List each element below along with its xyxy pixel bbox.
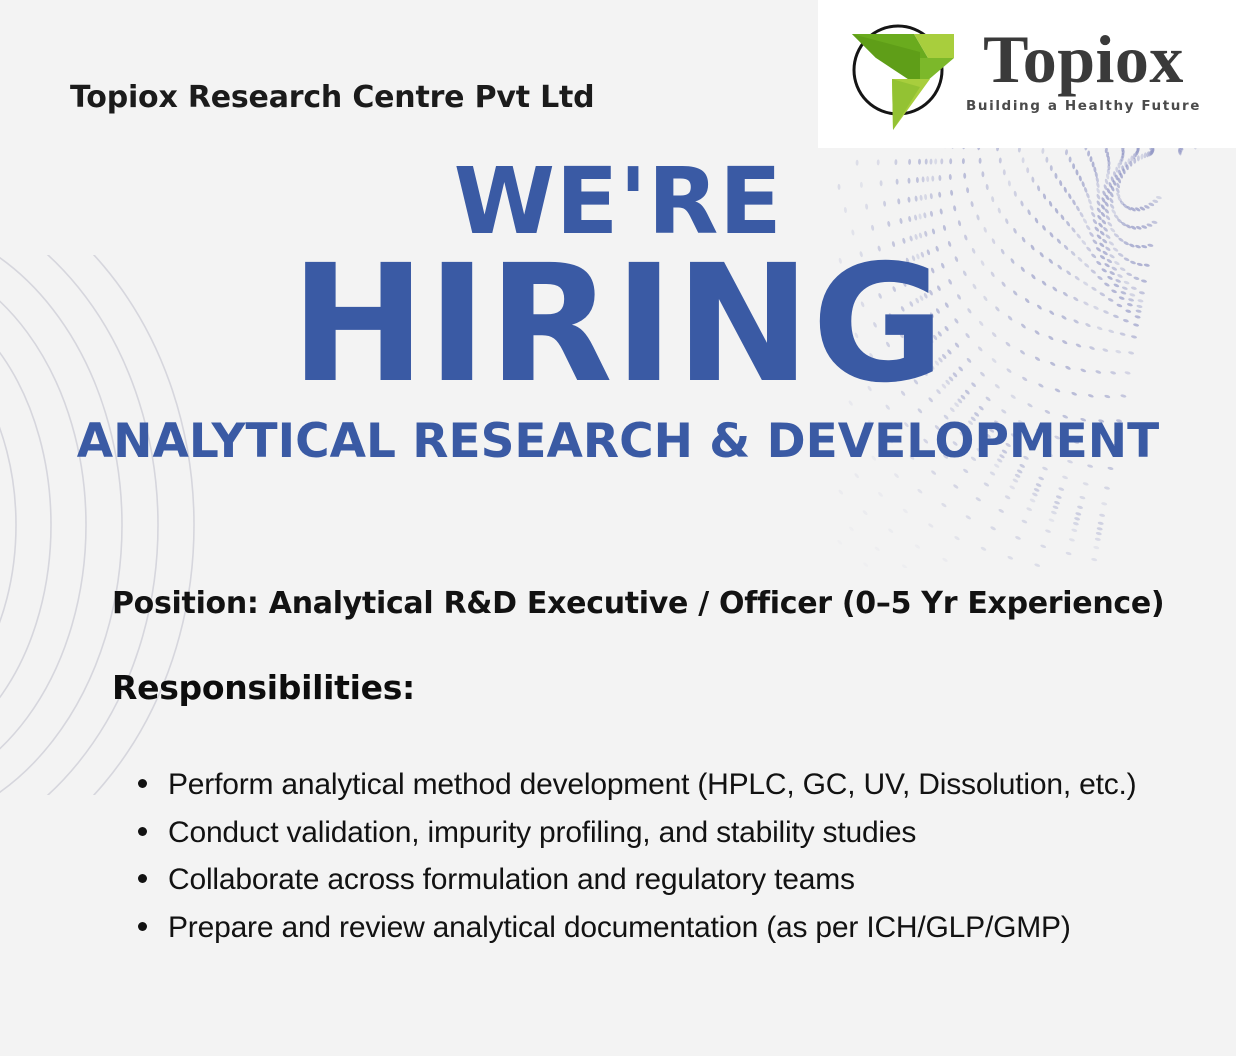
list-item: Conduct validation, impurity profiling, … — [168, 810, 1168, 856]
headline-hiring: HIRING — [0, 251, 1236, 400]
headline-block: WE'RE HIRING ANALYTICAL RESEARCH & DEVEL… — [0, 160, 1236, 465]
list-item: Perform analytical method development (H… — [168, 762, 1168, 808]
list-item-text: Perform analytical method development (H… — [168, 768, 1136, 801]
list-item-text: Prepare and review analytical documentat… — [168, 911, 1071, 944]
logo-wordmark: Topiox — [983, 26, 1184, 93]
list-item-text: Collaborate across formulation and regul… — [168, 863, 855, 896]
bullet-icon — [138, 874, 147, 883]
hiring-poster: Topiox Building a Healthy Future Topiox … — [0, 0, 1236, 1056]
list-item-text: Conduct validation, impurity profiling, … — [168, 816, 916, 849]
headline-department: ANALYTICAL RESEARCH & DEVELOPMENT — [0, 418, 1236, 465]
brand-logo: Topiox Building a Healthy Future — [818, 0, 1236, 148]
bullet-icon — [138, 779, 147, 788]
topiox-triangle-circle-logo — [836, 12, 960, 136]
bullet-icon — [138, 922, 147, 931]
bullet-icon — [138, 827, 147, 836]
company-name: Topiox Research Centre Pvt Ltd — [70, 80, 594, 115]
logo-tagline: Building a Healthy Future — [966, 98, 1201, 114]
responsibilities-heading: Responsibilities: — [112, 668, 415, 707]
list-item: Prepare and review analytical documentat… — [168, 905, 1168, 951]
logo-text-block: Topiox Building a Healthy Future — [966, 26, 1201, 122]
list-item: Collaborate across formulation and regul… — [168, 857, 1168, 903]
responsibilities-list: Perform analytical method development (H… — [130, 762, 1168, 952]
position-line: Position: Analytical R&D Executive / Off… — [112, 586, 1164, 621]
